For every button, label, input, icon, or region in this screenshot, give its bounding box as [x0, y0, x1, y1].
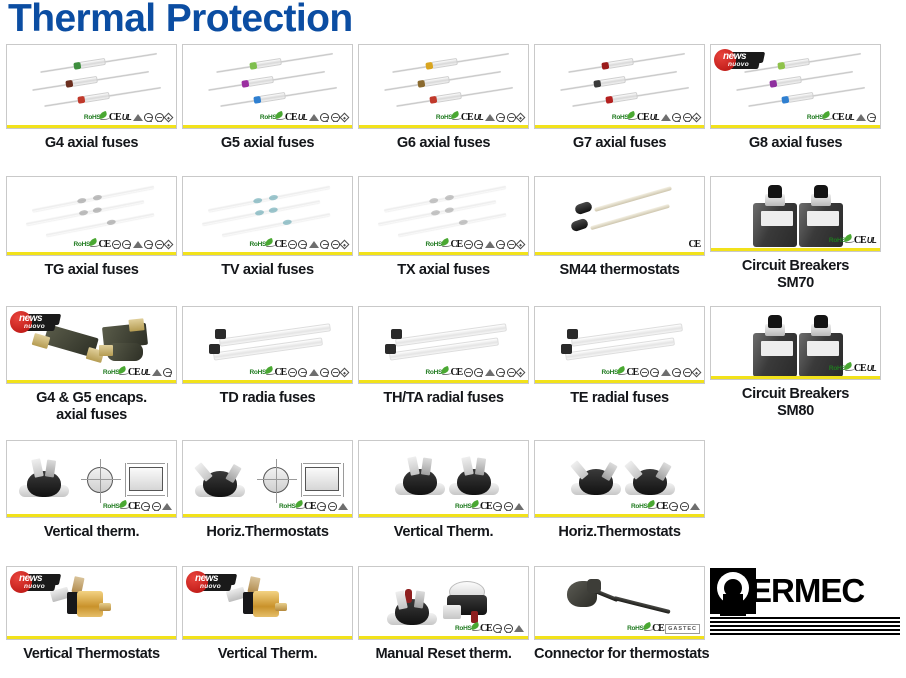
ce-icon: CE	[854, 235, 866, 246]
ul-icon: UL	[867, 236, 876, 245]
page-title: Thermal Protection	[8, 0, 353, 42]
approval-circle-icon	[112, 240, 121, 249]
approval-circle-icon	[331, 368, 340, 377]
ce-icon: CE	[480, 501, 492, 512]
product-card-image[interactable]: RoHSCE	[358, 176, 529, 256]
product-card-label: SM44 thermostats	[534, 262, 705, 279]
ce-icon: CE	[832, 112, 844, 123]
approval-diamond-icon	[164, 240, 174, 250]
approval-triangle-icon	[309, 114, 319, 121]
ermec-logo-wordmark: ERMEC	[750, 572, 864, 610]
certification-strip: RoHSCEUL	[829, 363, 876, 374]
product-card-label-line: SM70	[710, 275, 881, 292]
certification-strip: RoHSCE	[602, 367, 701, 378]
card-accent-underline	[183, 380, 352, 383]
product-image-area: RoHSCEUL	[359, 45, 528, 128]
approval-triangle-icon	[514, 503, 524, 510]
approval-triangle-icon	[152, 369, 162, 376]
product-image-radial-fuse	[381, 323, 511, 371]
product-card[interactable]: RoHSCETH/TA radial fuses	[358, 306, 529, 407]
technical-drawing	[257, 457, 347, 507]
product-card-image[interactable]: newsnuovo	[182, 566, 353, 640]
approval-circle-icon	[493, 502, 502, 511]
approval-circle-icon	[507, 113, 516, 122]
approval-diamond-icon	[516, 368, 526, 378]
product-card-label: TD radia fuses	[182, 390, 353, 407]
approval-circle-icon	[680, 502, 689, 511]
approval-diamond-icon	[340, 113, 350, 123]
product-card[interactable]: RoHSCEULCircuit BreakersSM70	[710, 176, 881, 292]
approval-triangle-icon	[690, 503, 700, 510]
approval-circle-icon	[144, 240, 153, 249]
card-accent-underline	[535, 636, 704, 639]
approval-diamond-icon	[164, 113, 174, 123]
product-image-brass-thermostat	[51, 583, 147, 633]
approval-diamond-icon	[692, 368, 702, 378]
product-card-image[interactable]: RoHSCE	[6, 176, 177, 256]
product-card[interactable]: RoHSCETV axial fuses	[182, 176, 353, 279]
ce-icon: CE	[461, 112, 473, 123]
approval-circle-icon	[683, 368, 692, 377]
certification-strip: RoHSCE	[455, 623, 524, 634]
product-image-tube-fuse	[199, 191, 341, 245]
product-card-image[interactable]: RoHSCE	[358, 566, 529, 640]
certification-strip: RoHSCEUL	[84, 112, 172, 123]
card-accent-underline	[183, 125, 352, 128]
ce-icon: CE	[854, 363, 866, 374]
product-card[interactable]: newsnuovoVertical Therm.	[182, 566, 353, 663]
product-image-axial-fuse	[549, 53, 695, 115]
product-card[interactable]: RoHSCEULG7 axial fuses	[534, 44, 705, 152]
product-card[interactable]: RoHSCEULG5 axial fuses	[182, 44, 353, 152]
product-card-label-line: Circuit Breakers	[710, 386, 881, 403]
card-accent-underline	[359, 636, 528, 639]
card-accent-underline	[7, 514, 176, 517]
approval-triangle-icon	[338, 503, 348, 510]
approval-circle-icon	[464, 368, 473, 377]
rohs-icon: RoHS	[829, 237, 853, 244]
certification-strip: CE	[689, 239, 701, 250]
product-card-label: Vertical therm.	[6, 524, 177, 541]
certification-strip: RoHSCE	[279, 501, 348, 512]
product-card-label: G5 axial fuses	[182, 135, 353, 152]
approval-circle-icon	[496, 113, 505, 122]
ce-icon: CE	[627, 367, 639, 378]
rohs-icon: RoHS	[455, 625, 479, 632]
product-card[interactable]: RoHSCEULG4 axial fuses	[6, 44, 177, 152]
card-accent-underline	[535, 252, 704, 255]
product-card-label: Manual Reset therm.	[358, 646, 529, 663]
product-image-area: newsnuovo	[7, 567, 176, 639]
approval-circle-icon	[288, 240, 297, 249]
rohs-icon: RoHS	[612, 114, 636, 121]
certification-strip: RoHSCEUL	[807, 112, 876, 123]
news-badge: newsnuovo	[10, 569, 62, 595]
product-card-label: Circuit BreakersSM70	[710, 258, 881, 292]
product-card-image[interactable]: RoHSCE	[182, 176, 353, 256]
product-image-axial-fuse	[21, 53, 167, 115]
card-accent-underline	[535, 380, 704, 383]
product-card-image[interactable]: CE	[534, 176, 705, 256]
product-card-label: G4 axial fuses	[6, 135, 177, 152]
rohs-icon: RoHS	[74, 241, 98, 248]
rohs-icon: RoHS	[426, 369, 450, 376]
ce-icon: CE	[128, 367, 140, 378]
ce-icon: CE	[656, 501, 668, 512]
ce-icon: CE	[275, 367, 287, 378]
ce-icon: CE	[637, 112, 649, 123]
rohs-icon: RoHS	[631, 503, 655, 510]
approval-diamond-icon	[692, 113, 702, 123]
approval-circle-icon	[144, 113, 153, 122]
ul-icon: UL	[845, 113, 854, 122]
rohs-icon: RoHS	[455, 503, 479, 510]
product-card-image[interactable]: RoHSCE	[6, 440, 177, 518]
certification-strip: RoHSCE	[426, 367, 525, 378]
product-card-label: TG axial fuses	[6, 262, 177, 279]
product-card-image[interactable]: RoHSCEUL	[358, 44, 529, 129]
approval-triangle-icon	[856, 114, 866, 121]
certification-strip: RoHSCEUL	[829, 235, 876, 246]
ce-icon: CE	[480, 623, 492, 634]
approval-circle-icon	[155, 113, 164, 122]
approval-circle-icon	[328, 502, 337, 511]
certification-strip: RoHSCEUL	[260, 112, 348, 123]
approval-circle-icon	[474, 368, 483, 377]
approval-triangle-icon	[309, 241, 319, 248]
approval-circle-icon	[141, 502, 150, 511]
product-card[interactable]: newsnuovoRoHSCEULG8 axial fuses	[710, 44, 881, 152]
approval-circle-icon	[496, 240, 505, 249]
approval-circle-icon	[640, 368, 649, 377]
approval-diamond-icon	[340, 240, 350, 250]
approval-circle-icon	[672, 368, 681, 377]
product-card-label: TH/TA radial fuses	[358, 390, 529, 407]
product-card[interactable]: RoHSCEULG6 axial fuses	[358, 44, 529, 152]
product-image-area: CE	[535, 177, 704, 255]
rohs-icon: RoHS	[426, 241, 450, 248]
product-card-image[interactable]: RoHSCE	[534, 306, 705, 384]
card-accent-underline	[711, 125, 880, 128]
product-card-image[interactable]: RoHSCEGASTEC	[534, 566, 705, 640]
approval-circle-icon	[493, 624, 502, 633]
product-card[interactable]: RoHSCETX axial fuses	[358, 176, 529, 279]
ce-icon: CE	[275, 239, 287, 250]
approval-circle-icon	[320, 368, 329, 377]
product-card[interactable]: RoHSCEULCircuit BreakersSM80	[710, 306, 881, 420]
product-image-area: RoHSCEUL	[183, 45, 352, 128]
approval-circle-icon	[504, 502, 513, 511]
ce-icon: CE	[99, 239, 111, 250]
card-accent-underline	[359, 252, 528, 255]
product-card-image[interactable]: RoHSCE	[534, 440, 705, 518]
ce-icon: CE	[451, 239, 463, 250]
card-accent-underline	[7, 252, 176, 255]
product-image-area: RoHSCE	[183, 307, 352, 383]
product-card[interactable]: RoHSCETD radia fuses	[182, 306, 353, 407]
ce-icon: CE	[128, 501, 140, 512]
product-card-label: Connector for thermostats	[534, 646, 705, 663]
product-card-image[interactable]: RoHSCE	[358, 440, 529, 518]
ce-icon: CE	[652, 623, 664, 634]
ul-icon: UL	[650, 113, 659, 122]
approval-circle-icon	[504, 624, 513, 633]
product-image-area: RoHSCE	[359, 441, 528, 517]
product-card-label: G6 axial fuses	[358, 135, 529, 152]
product-card-label: Horiz.Thermostats	[534, 524, 705, 541]
news-badge-sublabel: nuovo	[24, 323, 45, 330]
approval-diamond-icon	[516, 113, 526, 123]
product-card-label: TV axial fuses	[182, 262, 353, 279]
product-card-label: Vertical Thermostats	[6, 646, 177, 663]
product-image-brass-thermostat	[227, 583, 323, 633]
news-badge-sublabel: nuovo	[200, 583, 221, 590]
approval-circle-icon	[867, 113, 876, 122]
card-accent-underline	[359, 514, 528, 517]
approval-circle-icon	[122, 240, 131, 249]
product-card-label: Vertical Therm.	[358, 524, 529, 541]
product-image-area: RoHSCE	[359, 307, 528, 383]
ul-icon: UL	[867, 364, 876, 373]
product-card-image[interactable]: newsnuovo	[6, 566, 177, 640]
card-accent-underline	[7, 380, 176, 383]
product-card[interactable]: CESM44 thermostats	[534, 176, 705, 279]
approval-circle-icon	[650, 368, 659, 377]
certification-strip: RoHSCE	[250, 367, 349, 378]
approval-triangle-icon	[485, 241, 495, 248]
approval-circle-icon	[331, 113, 340, 122]
approval-triangle-icon	[133, 114, 143, 121]
product-card-image[interactable]: RoHSCE	[182, 306, 353, 384]
product-card[interactable]: RoHSCEHoriz.Thermostats	[182, 440, 353, 541]
approval-circle-icon	[298, 368, 307, 377]
product-card[interactable]: RoHSCEHoriz.Thermostats	[534, 440, 705, 541]
rohs-icon: RoHS	[436, 114, 460, 121]
rohs-icon: RoHS	[627, 625, 651, 632]
product-image-area: RoHSCE	[535, 307, 704, 383]
rohs-icon: RoHS	[103, 369, 127, 376]
product-image-area: RoHSCEUL	[7, 45, 176, 128]
approval-circle-icon	[507, 240, 516, 249]
ermec-logo-bars	[710, 617, 900, 637]
product-image-tube-fuse	[23, 191, 165, 245]
card-accent-underline	[711, 376, 880, 379]
card-accent-underline	[535, 514, 704, 517]
approval-diamond-icon	[516, 240, 526, 250]
certification-strip: RoHSCE	[103, 501, 172, 512]
product-card-label: Vertical Therm.	[182, 646, 353, 663]
approval-triangle-icon	[661, 369, 671, 376]
product-card-label: G7 axial fuses	[534, 135, 705, 152]
ce-icon: CE	[109, 112, 121, 123]
product-image-radial-fuse	[557, 323, 687, 371]
approval-circle-icon	[298, 240, 307, 249]
ul-icon: UL	[474, 113, 483, 122]
product-image-area: RoHSCE	[359, 567, 528, 639]
certification-strip: RoHSCEUL	[436, 112, 524, 123]
certification-strip: RoHSCE	[631, 501, 700, 512]
product-image-area: RoHSCEUL	[711, 307, 880, 379]
product-card-image[interactable]: RoHSCE	[358, 306, 529, 384]
approval-circle-icon	[288, 368, 297, 377]
ce-icon: CE	[304, 501, 316, 512]
product-card-image[interactable]: RoHSCEUL	[710, 306, 881, 380]
approval-diamond-icon	[340, 368, 350, 378]
approval-circle-icon	[317, 502, 326, 511]
product-image-area: newsnuovoRoHSCEUL	[7, 307, 176, 383]
news-badge: newsnuovo	[186, 569, 238, 595]
card-accent-underline	[711, 248, 880, 251]
product-card[interactable]: RoHSCETG axial fuses	[6, 176, 177, 279]
approval-circle-icon	[152, 502, 161, 511]
approval-circle-icon	[669, 502, 678, 511]
certification-strip: RoHSCE	[74, 239, 173, 250]
product-card-image[interactable]: RoHSCEUL	[182, 44, 353, 129]
product-card-image[interactable]: RoHSCEUL	[6, 44, 177, 129]
product-image-area: RoHSCE	[183, 441, 352, 517]
certification-strip: RoHSCE	[426, 239, 525, 250]
approval-triangle-icon	[485, 114, 495, 121]
approval-circle-icon	[320, 113, 329, 122]
approval-circle-icon	[331, 240, 340, 249]
rohs-icon: RoHS	[602, 369, 626, 376]
approval-circle-icon	[507, 368, 516, 377]
approval-circle-icon	[155, 240, 164, 249]
rohs-icon: RoHS	[260, 114, 284, 121]
product-card[interactable]: RoHSCEVertical therm.	[6, 440, 177, 541]
product-card-label: G8 axial fuses	[710, 135, 881, 152]
card-accent-underline	[359, 380, 528, 383]
rohs-icon: RoHS	[103, 503, 127, 510]
product-image-area: newsnuovo	[183, 567, 352, 639]
approval-circle-icon	[672, 113, 681, 122]
approval-triangle-icon	[309, 369, 319, 376]
card-accent-underline	[183, 514, 352, 517]
product-card-label: TX axial fuses	[358, 262, 529, 279]
product-card-image[interactable]: newsnuovoRoHSCEUL	[6, 306, 177, 384]
product-card-image[interactable]: RoHSCE	[182, 440, 353, 518]
product-image-axial-fuse	[373, 53, 519, 115]
technical-drawing	[81, 457, 171, 507]
rohs-icon: RoHS	[250, 369, 274, 376]
news-badge: newsnuovo	[10, 309, 62, 335]
approval-circle-icon	[163, 368, 172, 377]
approval-triangle-icon	[162, 503, 172, 510]
product-image-radial-fuse	[205, 323, 335, 371]
product-card-label: G4 & G5 encaps.axial fuses	[6, 390, 177, 424]
product-image-axial-fuse	[197, 53, 343, 115]
product-image-area: RoHSCE	[359, 177, 528, 255]
rohs-icon: RoHS	[250, 241, 274, 248]
certification-strip: RoHSCEUL	[612, 112, 700, 123]
product-image-area: newsnuovoRoHSCEUL	[711, 45, 880, 128]
card-accent-underline	[7, 636, 176, 639]
product-card-label: TE radial fuses	[534, 390, 705, 407]
approval-circle-icon	[496, 368, 505, 377]
product-card[interactable]: RoHSCEGASTECConnector for thermostats	[534, 566, 705, 663]
rohs-icon: RoHS	[807, 114, 831, 121]
product-card-label: Horiz.Thermostats	[182, 524, 353, 541]
approval-circle-icon	[464, 240, 473, 249]
ce-icon: CE	[689, 239, 701, 250]
product-card-label-line: axial fuses	[6, 407, 177, 424]
card-accent-underline	[183, 636, 352, 639]
approval-circle-icon	[320, 240, 329, 249]
approval-triangle-icon	[485, 369, 495, 376]
product-card[interactable]: RoHSCETE radial fuses	[534, 306, 705, 407]
approval-triangle-icon	[514, 625, 524, 632]
product-card[interactable]: newsnuovoVertical Thermostats	[6, 566, 177, 663]
certification-strip: RoHSCE	[250, 239, 349, 250]
approval-circle-icon	[474, 240, 483, 249]
approval-triangle-icon	[661, 114, 671, 121]
gastec-icon: GASTEC	[665, 624, 700, 634]
product-image-area: RoHSCE	[7, 177, 176, 255]
rohs-icon: RoHS	[829, 365, 853, 372]
product-card-image[interactable]: newsnuovoRoHSCEUL	[710, 44, 881, 129]
certification-strip: RoHSCEUL	[103, 367, 172, 378]
product-card[interactable]: newsnuovoRoHSCEULG4 & G5 encaps.axial fu…	[6, 306, 177, 424]
certification-strip: RoHSCE	[455, 501, 524, 512]
news-badge-sublabel: nuovo	[728, 61, 749, 68]
ul-icon: UL	[141, 368, 150, 377]
news-badge-sublabel: nuovo	[24, 583, 45, 590]
ul-icon: UL	[298, 113, 307, 122]
product-card[interactable]: RoHSCEVertical Therm.	[358, 440, 529, 541]
product-image-area: RoHSCEUL	[711, 177, 880, 251]
approval-triangle-icon	[133, 241, 143, 248]
card-accent-underline	[359, 125, 528, 128]
card-accent-underline	[7, 125, 176, 128]
product-image-sm44-thermostat	[565, 189, 679, 243]
product-card-label-line: Circuit Breakers	[710, 258, 881, 275]
product-image-area: RoHSCE	[535, 441, 704, 517]
card-accent-underline	[535, 125, 704, 128]
rohs-icon: RoHS	[84, 114, 108, 121]
product-card-image[interactable]: RoHSCEUL	[710, 176, 881, 252]
rohs-icon: RoHS	[279, 503, 303, 510]
product-image-tube-fuse	[375, 191, 517, 245]
card-accent-underline	[183, 252, 352, 255]
ermec-logo: ERMEC	[710, 568, 900, 630]
ce-icon: CE	[285, 112, 297, 123]
certification-strip: RoHSCEGASTEC	[627, 623, 700, 634]
ul-icon: UL	[122, 113, 131, 122]
product-card[interactable]: RoHSCEManual Reset therm.	[358, 566, 529, 663]
product-card-label-line: SM80	[710, 403, 881, 420]
ce-icon: CE	[451, 367, 463, 378]
product-card-image[interactable]: RoHSCEUL	[534, 44, 705, 129]
product-card-label-line: G4 & G5 encaps.	[6, 390, 177, 407]
news-badge: newsnuovo	[714, 47, 766, 73]
product-image-area: RoHSCEUL	[535, 45, 704, 128]
product-image-area: RoHSCE	[183, 177, 352, 255]
product-card-label: Circuit BreakersSM80	[710, 386, 881, 420]
product-image-area: RoHSCEGASTEC	[535, 567, 704, 639]
product-image-area: RoHSCE	[7, 441, 176, 517]
approval-circle-icon	[683, 113, 692, 122]
